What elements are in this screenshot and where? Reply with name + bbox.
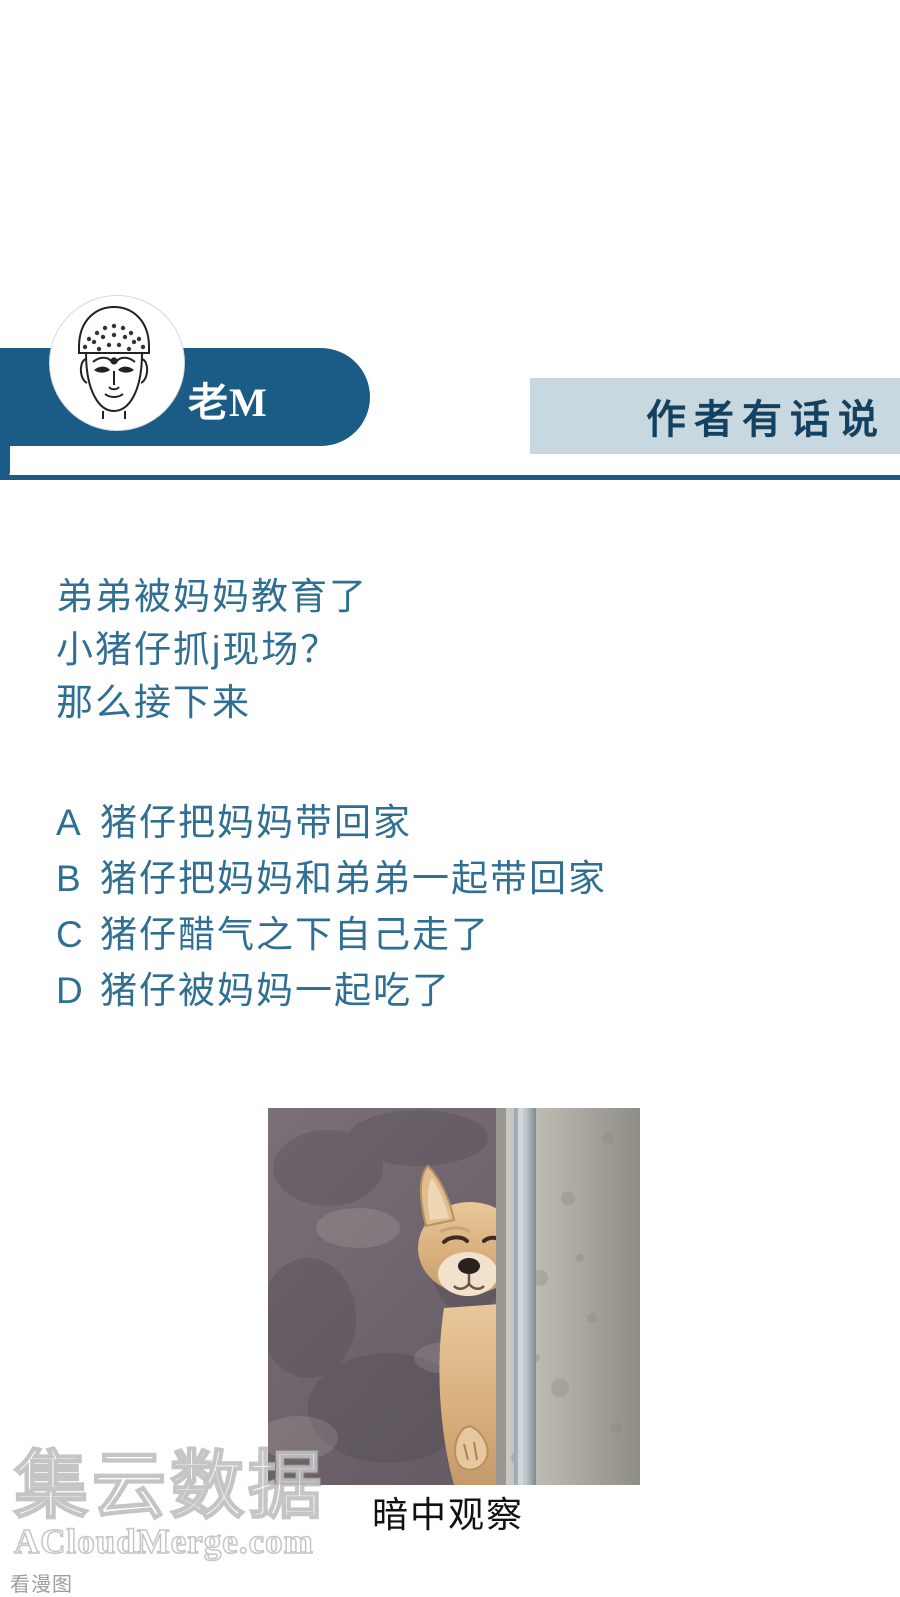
header-rule-nub	[0, 446, 10, 478]
photo-caption: 暗中观察	[372, 1486, 524, 1538]
lead-line-1: 弟弟被妈妈教育了	[56, 570, 856, 623]
author-name: 老M	[188, 370, 268, 428]
dog-peeking-illustration	[268, 1108, 640, 1485]
watermark-sub: 看漫图	[10, 1568, 73, 1597]
metal-pole	[514, 1108, 536, 1485]
option-d-label: 猪仔被妈妈一起吃了	[100, 963, 451, 1019]
watermark-en: ACloudMerge.com	[14, 1522, 434, 1562]
poll-options: A 猪仔把妈妈带回家 B 猪仔把妈妈和弟弟一起带回家 C 猪仔醋气之下自己走了 …	[56, 795, 856, 1019]
option-c-letter: C	[56, 907, 100, 963]
option-a-label: 猪仔把妈妈带回家	[100, 795, 412, 851]
post-body: 弟弟被妈妈教育了 小猪仔抓j现场？ 那么接下来 A 猪仔把妈妈带回家 B 猪仔把…	[56, 570, 856, 1019]
option-d[interactable]: D 猪仔被妈妈一起吃了	[56, 963, 856, 1019]
option-c[interactable]: C 猪仔醋气之下自己走了	[56, 907, 856, 963]
option-b-label: 猪仔把妈妈和弟弟一起带回家	[100, 851, 607, 907]
buddha-face-icon	[53, 299, 175, 421]
option-b[interactable]: B 猪仔把妈妈和弟弟一起带回家	[56, 851, 856, 907]
lead-line-3: 那么接下来	[56, 676, 856, 729]
option-a[interactable]: A 猪仔把妈妈带回家	[56, 795, 856, 851]
option-a-letter: A	[56, 795, 100, 851]
dog-photo	[268, 1108, 640, 1485]
lead-line-2: 小猪仔抓j现场？	[56, 623, 856, 676]
header-rule	[0, 475, 900, 480]
avatar	[50, 296, 184, 430]
section-label-text: 作者有话说	[646, 387, 886, 445]
option-c-label: 猪仔醋气之下自己走了	[100, 907, 490, 963]
author-header: 老M 作者有话说	[0, 348, 900, 478]
option-b-letter: B	[56, 851, 100, 907]
option-d-letter: D	[56, 963, 100, 1019]
section-label-banner: 作者有话说	[530, 378, 900, 454]
